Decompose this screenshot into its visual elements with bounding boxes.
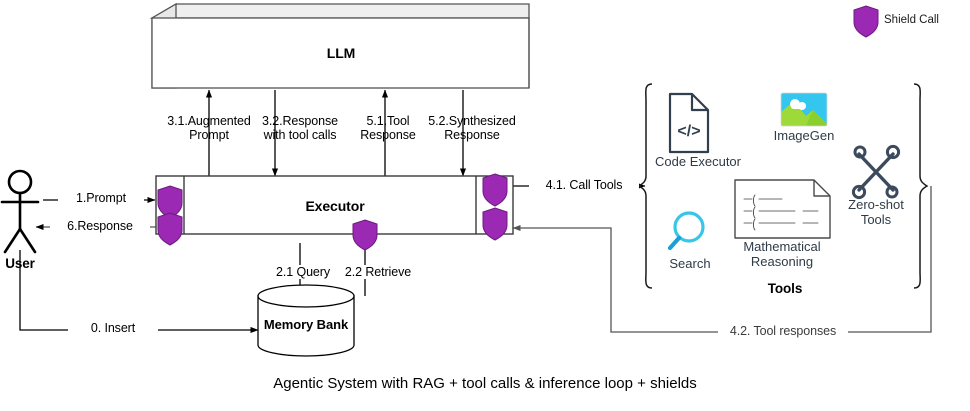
edge-label-tool-responses: 4.2. Tool responses [718,324,848,338]
shield-executor-in-bottom [158,213,182,245]
code-document-icon: </> [670,94,708,152]
math-document-icon [735,180,830,238]
legend-shield-label: Shield Call [884,14,939,26]
shield-executor-memory [353,220,377,250]
tool-label-zero-shot-tools[interactable]: Zero-shot Tools [838,197,914,227]
tool-label-code-executor[interactable]: Code Executor [648,154,748,169]
edge-label-insert: 0. Insert [68,321,158,335]
tools-group-label: Tools [745,282,825,296]
legend-shield-icon [854,6,878,37]
edge-label-retrieve: 2.2 Retrieve [331,265,425,279]
executor-node-label: Executor [285,199,385,213]
image-photo-icon [781,93,827,126]
tool-label-mathematical-reasoning[interactable]: Mathematical Reasoning [727,239,837,269]
shield-executor-out-bottom [483,208,507,240]
edge-insert-line [20,250,258,330]
svg-text:</>: </> [677,123,700,140]
memory-bank-node-label: Memory Bank [256,318,356,332]
magnifying-glass-icon [670,213,703,248]
tool-label-imagegen[interactable]: ImageGen [764,128,844,143]
user-node-label: User [0,257,50,271]
edge-label-response: 6.Response [50,219,150,233]
crossed-wrenches-icon [853,146,898,197]
edge-label-prompt: 1.Prompt [58,191,144,205]
tool-label-search[interactable]: Search [655,256,725,271]
edge-label-synthesized-response: 5.2.Synthesized Response [413,114,531,142]
diagram-canvas: </> [0,0,970,411]
llm-node-label: LLM [291,46,391,60]
edge-label-call-tools: 4.1. Call Tools [529,178,639,192]
user-actor-icon [2,171,38,252]
connector-layer: </> [0,0,970,411]
diagram-caption: Agentic System with RAG + tool calls & i… [0,375,970,392]
